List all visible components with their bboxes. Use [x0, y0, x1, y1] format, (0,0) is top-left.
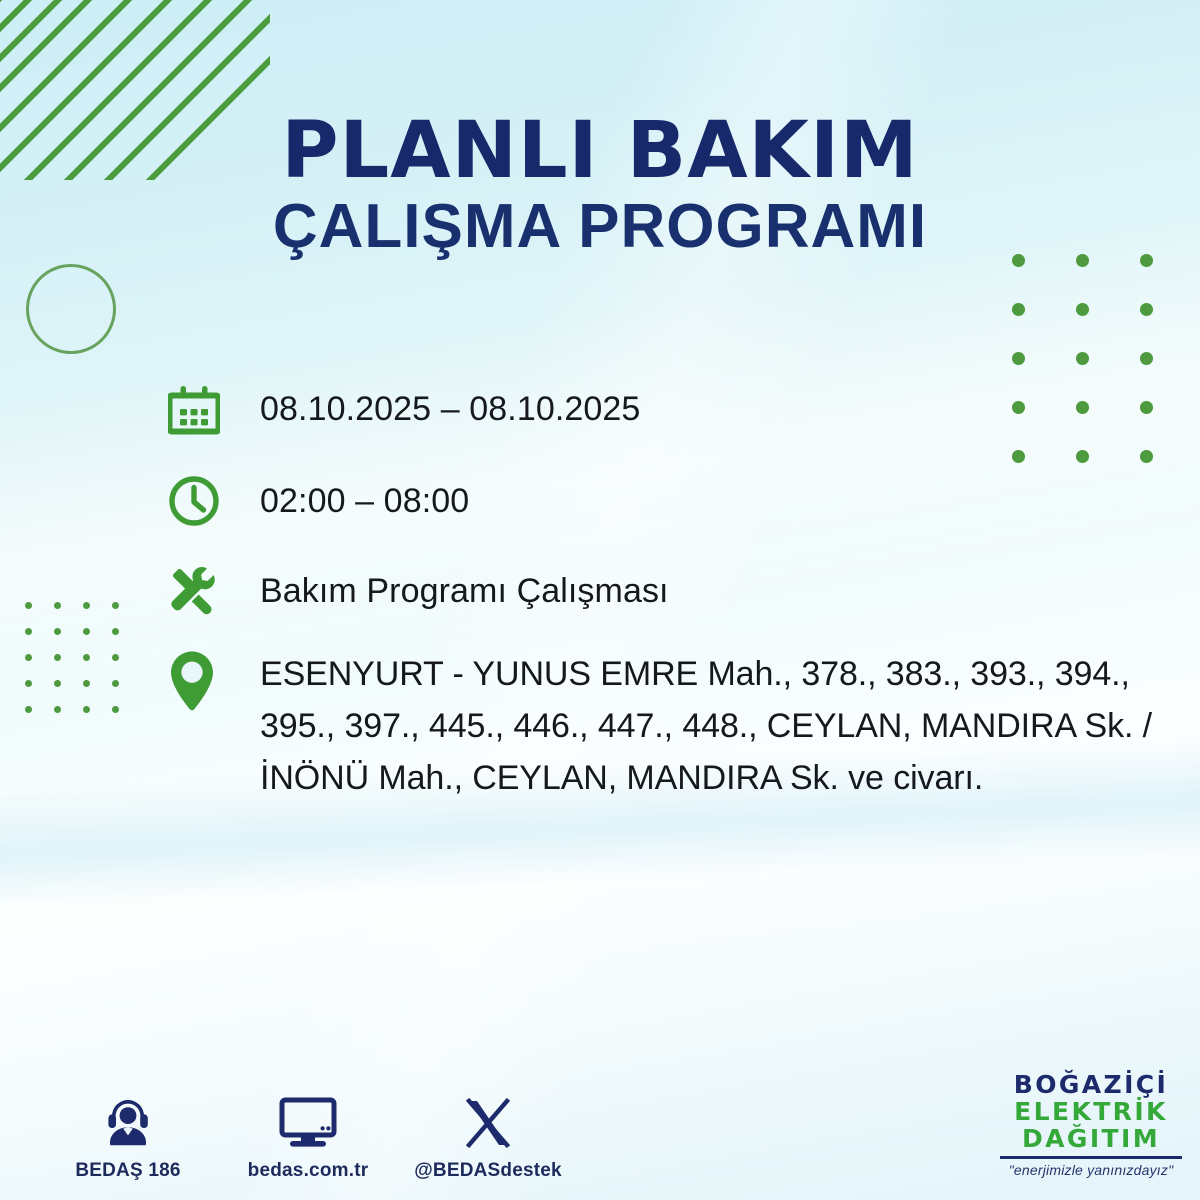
footer-contacts: BEDAŞ 186 bedas.com.tr	[58, 1092, 558, 1182]
date-range-value: 08.10.2025 – 08.10.2025	[260, 382, 1178, 436]
work-type-value: Bakım Programı Çalışması	[260, 564, 1178, 618]
outage-details-block: 08.10.2025 – 08.10.2025 02:00 – 08:00	[168, 382, 1178, 832]
title-line-primary: PLANLI BAKIM	[0, 112, 1200, 190]
contact-social-label: @BEDASdestek	[414, 1160, 562, 1182]
x-social-icon	[461, 1092, 515, 1150]
dot-grid-left-decoration	[14, 592, 130, 722]
time-range-value: 02:00 – 08:00	[260, 474, 1178, 528]
poster-canvas: PLANLI BAKIM ÇALIŞMA PROGRAMI	[0, 0, 1200, 1200]
detail-row-date: 08.10.2025 – 08.10.2025	[168, 382, 1178, 436]
contact-website[interactable]: bedas.com.tr	[238, 1092, 378, 1182]
brand-logo: BOĞAZİÇİ ELEKTRİK DAĞITIM "enerjimizle y…	[1000, 1071, 1182, 1178]
contact-phone-label: BEDAŞ 186	[75, 1160, 180, 1182]
contact-social[interactable]: @BEDASdestek	[418, 1092, 558, 1182]
location-pin-icon	[168, 648, 260, 704]
detail-row-work-type: Bakım Programı Çalışması	[168, 564, 1178, 618]
tools-icon	[168, 564, 260, 618]
brand-tagline: "enerjimizle yanınızdayız"	[1000, 1162, 1182, 1178]
title-line-secondary: ÇALIŞMA PROGRAMI	[0, 190, 1200, 263]
circle-outline-decoration	[26, 264, 116, 354]
brand-line-dagitim: DAĞITIM	[1000, 1125, 1182, 1152]
brand-line-elektrik: ELEKTRİK	[1000, 1098, 1182, 1125]
contact-website-label: bedas.com.tr	[248, 1160, 369, 1182]
calendar-icon	[168, 382, 260, 436]
monitor-icon	[277, 1092, 339, 1150]
headset-agent-icon	[99, 1092, 157, 1150]
detail-row-location: ESENYURT - YUNUS EMRE Mah., 378., 383., …	[168, 648, 1178, 804]
location-value: ESENYURT - YUNUS EMRE Mah., 378., 383., …	[260, 648, 1178, 804]
brand-line-bogazici: BOĞAZİÇİ	[1000, 1071, 1182, 1098]
page-title: PLANLI BAKIM ÇALIŞMA PROGRAMI	[0, 112, 1200, 263]
clock-icon	[168, 474, 260, 528]
brand-divider	[1000, 1156, 1182, 1159]
contact-phone[interactable]: BEDAŞ 186	[58, 1092, 198, 1182]
detail-row-time: 02:00 – 08:00	[168, 474, 1178, 528]
